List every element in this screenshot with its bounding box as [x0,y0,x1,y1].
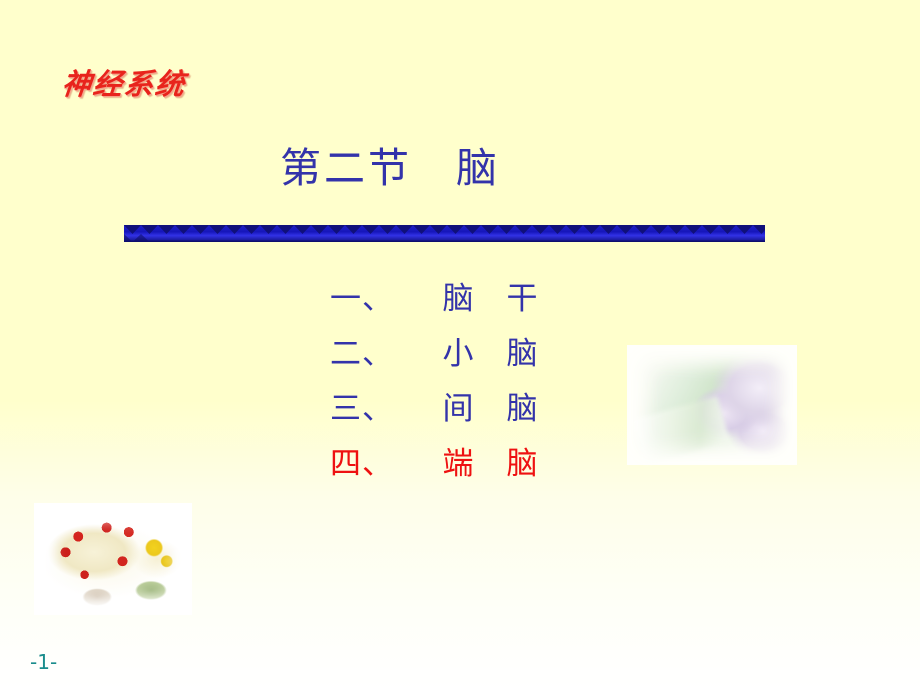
lavender-roses-photo [627,345,797,465]
contents-list: 一、 脑 干 二、 小 脑 三、 间 脑 四、 端 脑 [330,272,580,492]
zigzag-divider-icon [124,225,765,242]
list-item-cerebellum[interactable]: 二、 小 脑 [330,327,580,382]
zigzag-divider [124,225,765,242]
flower-bouquet-photo [34,503,192,615]
slide-number: -1- [30,650,57,674]
presentation-slide: 神经系统 第二节 脑 一、 脑 干 二、 小 [0,0,920,690]
slide-header-artistic-title: 神经系统 [60,70,187,99]
list-item-brainstem[interactable]: 一、 脑 干 [330,272,580,327]
list-item-diencephalon[interactable]: 三、 间 脑 [330,382,580,437]
list-item-telencephalon[interactable]: 四、 端 脑 [330,437,580,492]
page-title: 第二节 脑 [0,146,780,191]
